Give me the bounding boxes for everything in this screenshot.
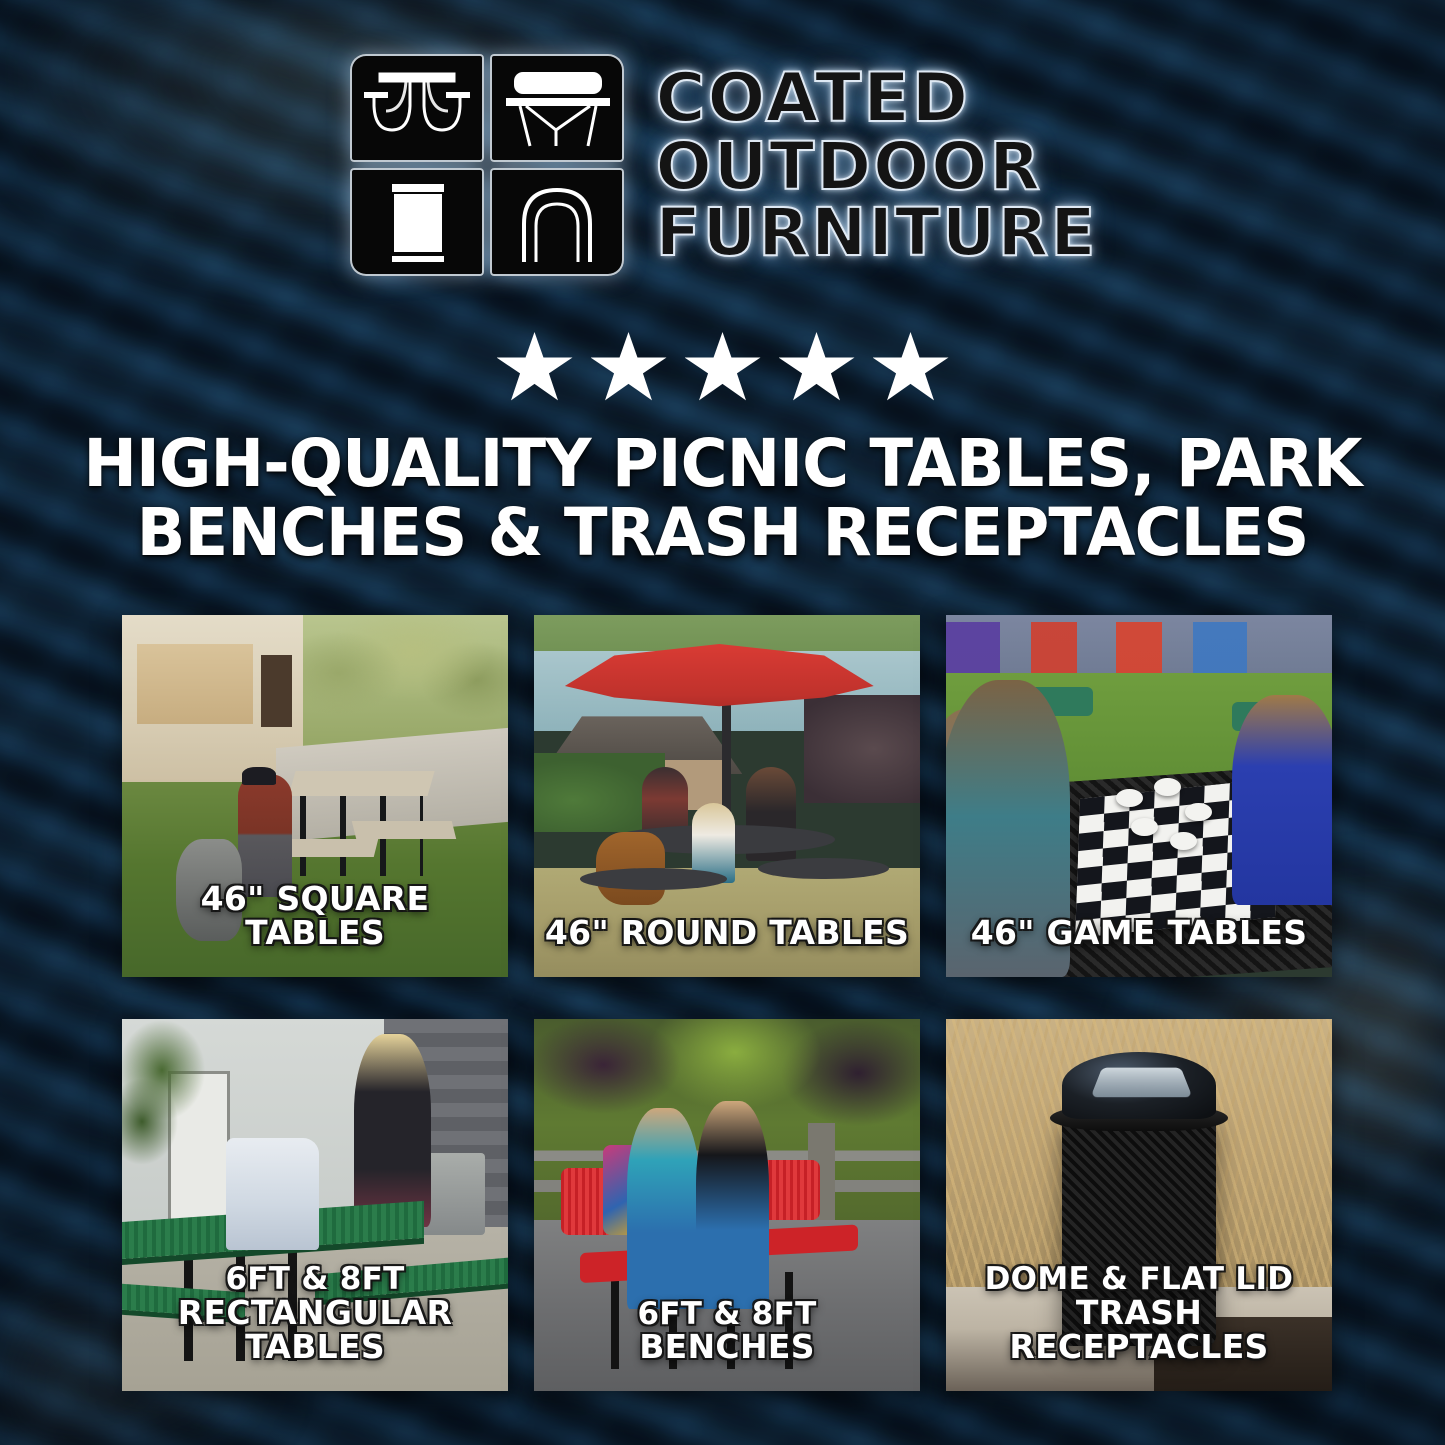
star-icon [685, 332, 761, 404]
product-tile-trash-receptacles[interactable]: DOME & FLAT LID TRASH RECEPTACLES [946, 1019, 1332, 1391]
caption-line-1: DOME & FLAT LID [956, 1263, 1322, 1296]
product-tile-round-tables[interactable]: 46" ROUND TABLES [534, 615, 920, 977]
trash-receptacle-icon [350, 168, 484, 276]
promo-poster: COATED OUTDOOR FURNITURE HIGH-QUALITY PI… [0, 0, 1445, 1445]
star-icon [873, 332, 949, 404]
caption-line-1: 46" GAME TABLES [956, 916, 1322, 951]
product-tile-square-tables[interactable]: 46" SQUARE TABLES [122, 615, 508, 977]
bench-icon [490, 54, 624, 162]
brand-line-2: OUTDOOR [656, 135, 1098, 200]
headline-line-1: HIGH-QUALITY PICNIC TABLES, PARK [80, 430, 1365, 499]
caption-line-1: 6FT & 8FT [544, 1298, 910, 1331]
product-caption: 6FT & 8FT RECTANGULAR TABLES [122, 1263, 508, 1365]
headline: HIGH-QUALITY PICNIC TABLES, PARK BENCHES… [22, 430, 1424, 567]
caption-line-1: 46" SQUARE TABLES [132, 882, 498, 951]
product-caption: 6FT & 8FT BENCHES [534, 1298, 920, 1365]
caption-line-1: 46" ROUND TABLES [544, 916, 910, 951]
caption-line-2: BENCHES [544, 1330, 910, 1365]
star-icon [497, 332, 573, 404]
star-icon [591, 332, 667, 404]
product-tile-rectangular-tables[interactable]: 6FT & 8FT RECTANGULAR TABLES [122, 1019, 508, 1391]
brand-wordmark: COATED OUTDOOR FURNITURE [656, 66, 1098, 266]
brand-line-3: FURNITURE [656, 201, 1098, 266]
caption-line-2: RECTANGULAR TABLES [132, 1296, 498, 1365]
brand-header: COATED OUTDOOR FURNITURE [0, 52, 1445, 280]
caption-line-1: 6FT & 8FT [132, 1263, 498, 1296]
brand-logo-mark [348, 52, 630, 280]
product-tile-game-tables[interactable]: 46" GAME TABLES [946, 615, 1332, 977]
product-caption: DOME & FLAT LID TRASH RECEPTACLES [946, 1263, 1332, 1365]
product-grid: 46" SQUARE TABLES [122, 615, 1332, 1391]
product-caption: 46" SQUARE TABLES [122, 882, 508, 951]
picnic-table-icon [350, 54, 484, 162]
caption-line-2: TRASH RECEPTACLES [956, 1296, 1322, 1365]
arch-bike-rack-icon [490, 168, 624, 276]
product-caption: 46" ROUND TABLES [534, 916, 920, 951]
brand-line-1: COATED [656, 66, 1098, 133]
logo-row: COATED OUTDOOR FURNITURE [0, 52, 1445, 280]
product-tile-benches[interactable]: 6FT & 8FT BENCHES [534, 1019, 920, 1391]
product-caption: 46" GAME TABLES [946, 916, 1332, 951]
star-icon [779, 332, 855, 404]
headline-line-2: BENCHES & TRASH RECEPTACLES [80, 499, 1365, 568]
star-rating [0, 332, 1445, 404]
